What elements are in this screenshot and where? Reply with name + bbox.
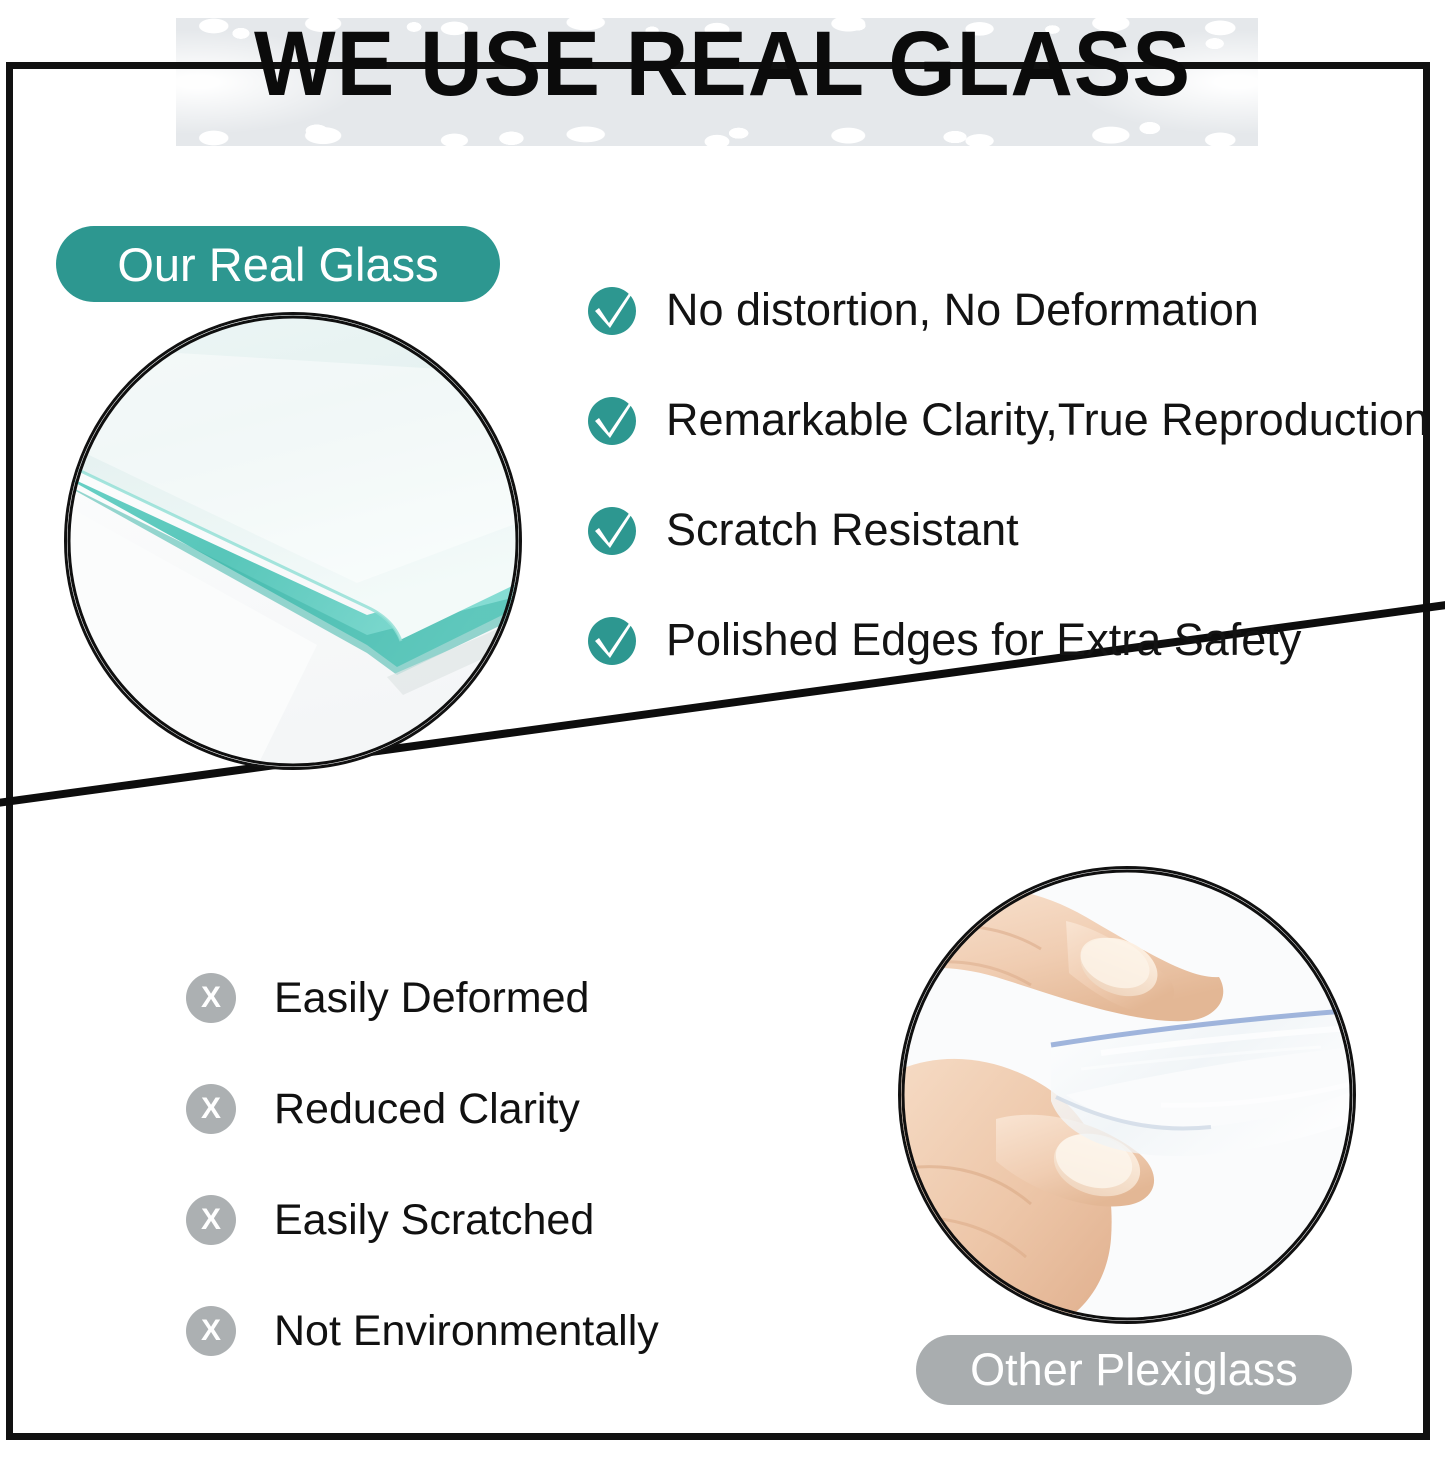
plexiglass-illustration — [901, 869, 1353, 1321]
check-icon — [586, 394, 638, 446]
x-icon: X — [186, 1195, 236, 1245]
check-icon — [586, 614, 638, 666]
badge-other-plexiglass: Other Plexiglass — [916, 1335, 1352, 1405]
page-title: WE USE REAL GLASS — [43, 0, 1401, 128]
con-label: Reduced Clarity — [274, 1078, 580, 1140]
con-row: X Easily Scratched — [186, 1194, 826, 1305]
con-label: Not Environmentally — [274, 1300, 659, 1362]
feature-label: No distortion, No Deformation — [666, 276, 1259, 344]
feature-label: Polished Edges for Extra Safety — [666, 606, 1301, 674]
glass-illustration — [67, 315, 519, 767]
feature-row: No distortion, No Deformation — [586, 276, 1426, 386]
check-icon — [586, 284, 638, 336]
feature-row: Polished Edges for Extra Safety — [586, 606, 1426, 716]
feature-row: Remarkable Clarity,True Reproduction — [586, 386, 1426, 496]
infographic-root: WE USE REAL GLASS Our Real Glass — [0, 0, 1445, 1470]
plexiglass-photo — [898, 866, 1356, 1324]
x-icon: X — [186, 973, 236, 1023]
pro-feature-list: No distortion, No Deformation Remarkable… — [586, 276, 1426, 716]
feature-label: Remarkable Clarity,True Reproduction — [666, 386, 1429, 454]
con-feature-list: X Easily Deformed X Reduced Clarity X Ea… — [186, 972, 826, 1416]
x-icon: X — [186, 1306, 236, 1356]
con-label: Easily Deformed — [274, 967, 589, 1029]
feature-row: Scratch Resistant — [586, 496, 1426, 606]
con-row: X Easily Deformed — [186, 972, 826, 1083]
con-row: X Reduced Clarity — [186, 1083, 826, 1194]
real-glass-photo — [64, 312, 522, 770]
badge-our-real-glass: Our Real Glass — [56, 226, 500, 302]
feature-label: Scratch Resistant — [666, 496, 1019, 564]
con-label: Easily Scratched — [274, 1189, 594, 1251]
check-icon — [586, 504, 638, 556]
con-row: X Not Environmentally — [186, 1305, 826, 1416]
x-icon: X — [186, 1084, 236, 1134]
